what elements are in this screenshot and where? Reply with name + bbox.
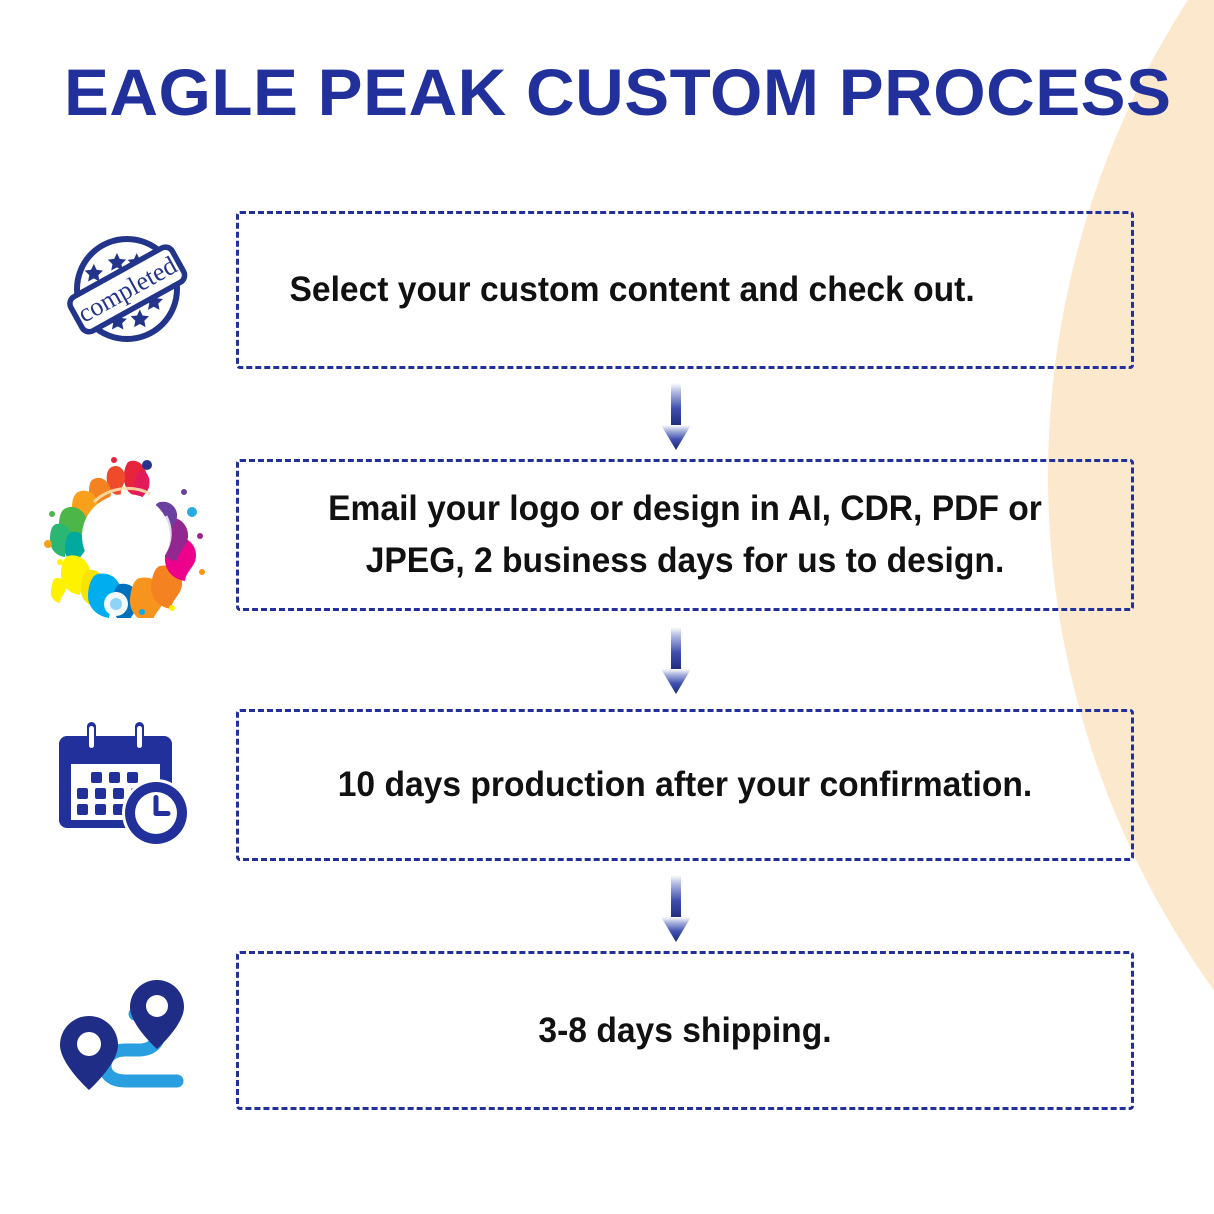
flow-arrow-2-to-3	[648, 627, 704, 700]
arrow-down-icon	[648, 383, 704, 451]
completed-stamp-icon: completed	[57, 230, 197, 350]
step-3-icon-cell	[42, 720, 212, 850]
paint-splash-ring-icon	[42, 452, 212, 618]
step-3-message-box: 10 days production after your confirmati…	[236, 709, 1134, 861]
step-4-icon-cell	[42, 978, 212, 1093]
step-3-line-1: 10 days production after your confirmati…	[280, 759, 1090, 811]
step-1-line-1: Select your custom content and check out…	[289, 264, 1113, 316]
shipping-route-pins-icon	[57, 978, 197, 1093]
step-3-message-text: 10 days production after your confirmati…	[257, 759, 1113, 811]
step-2-message-text: Email your logo or design in AI, CDR, PD…	[257, 483, 1113, 587]
infographic-canvas: EAGLE PEAK CUSTOM PROCESS completed	[0, 0, 1214, 1214]
step-2-icon-cell	[42, 452, 212, 618]
step-4-message-box: 3-8 days shipping.	[236, 951, 1134, 1110]
arrow-down-icon	[648, 627, 704, 695]
step-1-icon-cell: completed	[42, 230, 212, 350]
page-title: EAGLE PEAK CUSTOM PROCESS	[64, 52, 1186, 132]
flow-arrow-1-to-2	[648, 383, 704, 456]
step-2-line-1: Email your logo or design in AI, CDR, PD…	[280, 483, 1090, 535]
step-1-message-text: Select your custom content and check out…	[257, 264, 1113, 316]
step-4-line-1: 3-8 days shipping.	[280, 1005, 1090, 1057]
step-1-message-box: Select your custom content and check out…	[236, 211, 1134, 369]
flow-arrow-3-to-4	[648, 875, 704, 948]
calendar-clock-icon	[57, 720, 197, 850]
step-2-message-box: Email your logo or design in AI, CDR, PD…	[236, 459, 1134, 611]
arrow-down-icon	[648, 875, 704, 943]
step-4-message-text: 3-8 days shipping.	[257, 1005, 1113, 1057]
step-2-line-2: JPEG, 2 business days for us to design.	[280, 535, 1090, 587]
